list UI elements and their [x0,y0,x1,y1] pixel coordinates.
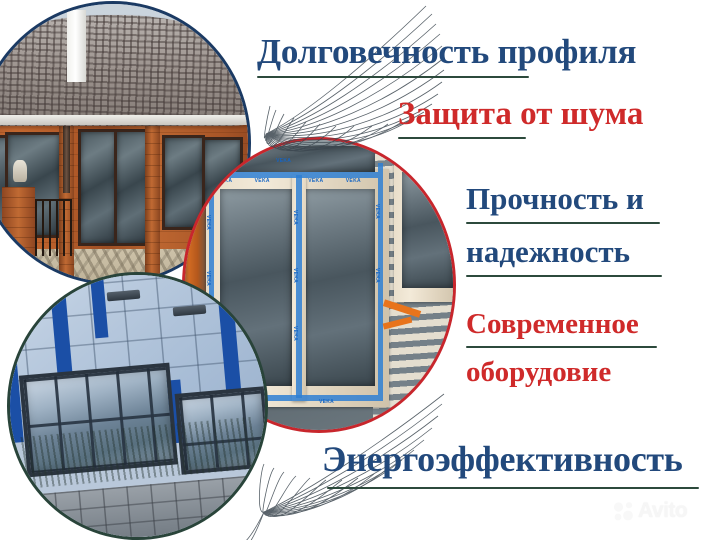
house-wall-lamp [13,160,27,182]
veka-film-label: VEKA [308,179,323,184]
veka-film-label: VEKA [292,210,297,225]
avito-dots-logo [613,501,635,521]
headline-underline [466,222,660,224]
window-glass-pane [303,189,375,386]
house-downpipe [63,121,69,193]
house-eave-trim [0,115,248,124]
veka-film-label: VEKA [346,179,361,184]
headline-equipment: оборудовие [466,358,611,387]
window-transom-glass [220,146,375,172]
headline-modern: Современное [466,310,639,339]
veka-film-label: VEKA [292,268,297,283]
photo-building-facade [10,275,265,537]
headline-underline [466,346,657,348]
house-tiled-roof [0,15,248,126]
headline-underline [327,487,699,489]
veka-film-label: VEKA [374,204,379,219]
veka-film-label: VEKA [205,215,210,230]
headline-noise-protection: Защита от шума [398,98,643,131]
veka-film-label: VEKA [217,159,232,164]
avito-watermark: Avito [613,500,687,521]
avito-watermark-text: Avito [638,500,687,521]
house-corner-post [145,121,160,282]
veka-film-label: VEKA [255,179,270,184]
headline-energy-efficiency: Энергоэффективность [322,441,683,477]
veka-film-label: VEKA [276,159,291,164]
headline-underline [257,76,529,78]
headline-reliability: надежность [466,236,630,267]
veka-film-label: VEKA [374,268,379,283]
headline-underline [398,137,526,139]
protective-film-tape [212,172,378,178]
veka-film-label: VEKA [292,326,297,341]
veka-film-label: VEKA [217,179,232,184]
protective-film-tape [296,175,301,398]
headline-strength: Прочность и [466,183,644,214]
poster-canvas: VEKA VEKA VEKA VEKA VEKA VEKA VEKA VEKA … [0,0,720,540]
house-balcony-railing [35,199,73,257]
headline-durability: Долговечность профиля [257,34,636,69]
house-balcony-pillar [2,187,34,270]
headline-underline [466,275,662,277]
window-side-glass [402,172,453,288]
protective-film-tape [394,160,453,165]
house-roof-ridge [67,10,86,82]
veka-film-label: VEKA [319,400,334,405]
house-window [78,129,118,246]
